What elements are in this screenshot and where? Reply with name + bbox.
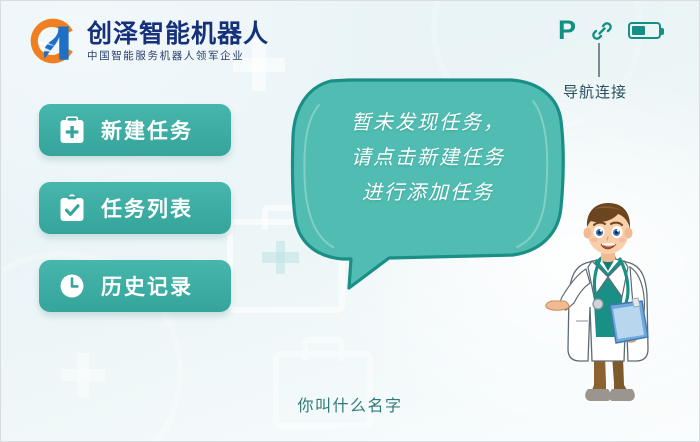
brand-logo: 创泽智能机器人 中国智能服务机器人领军企业	[27, 15, 269, 67]
clipboard-plus-icon	[59, 116, 85, 144]
brand-subtitle: 中国智能服务机器人领军企业	[87, 51, 269, 62]
company-logo-icon	[27, 15, 79, 67]
menu-label: 新建任务	[101, 115, 193, 145]
menu-label: 历史记录	[101, 271, 193, 301]
menu-button-history[interactable]: 历史记录	[39, 260, 231, 312]
chain-link-icon	[590, 19, 614, 43]
clock-icon	[59, 272, 85, 300]
speech-bubble: 暂未发现任务， 请点击新建任务 进行添加任务	[289, 75, 567, 290]
doctor-avatar	[544, 197, 672, 412]
status-bar: P	[558, 17, 661, 44]
nav-pointer-line	[598, 43, 600, 77]
background-cross-watermark	[61, 353, 105, 397]
menu-button-new-task[interactable]: 新建任务	[39, 104, 231, 156]
speech-bubble-shape	[289, 75, 567, 290]
menu-button-task-list[interactable]: 任务列表	[39, 182, 231, 234]
main-menu: 新建任务 任务列表 历史记录	[39, 104, 231, 312]
nav-connect-label: 导航连接	[563, 81, 627, 102]
brand-title: 创泽智能机器人	[87, 21, 269, 46]
menu-label: 任务列表	[101, 193, 193, 223]
robot-home-screen: 创泽智能机器人 中国智能服务机器人领军企业 P 导航连接	[0, 0, 700, 442]
battery-icon	[628, 22, 661, 39]
parking-icon: P	[558, 17, 576, 44]
voice-prompt-caption: 你叫什么名字	[1, 392, 699, 416]
clipboard-check-icon	[59, 194, 85, 222]
